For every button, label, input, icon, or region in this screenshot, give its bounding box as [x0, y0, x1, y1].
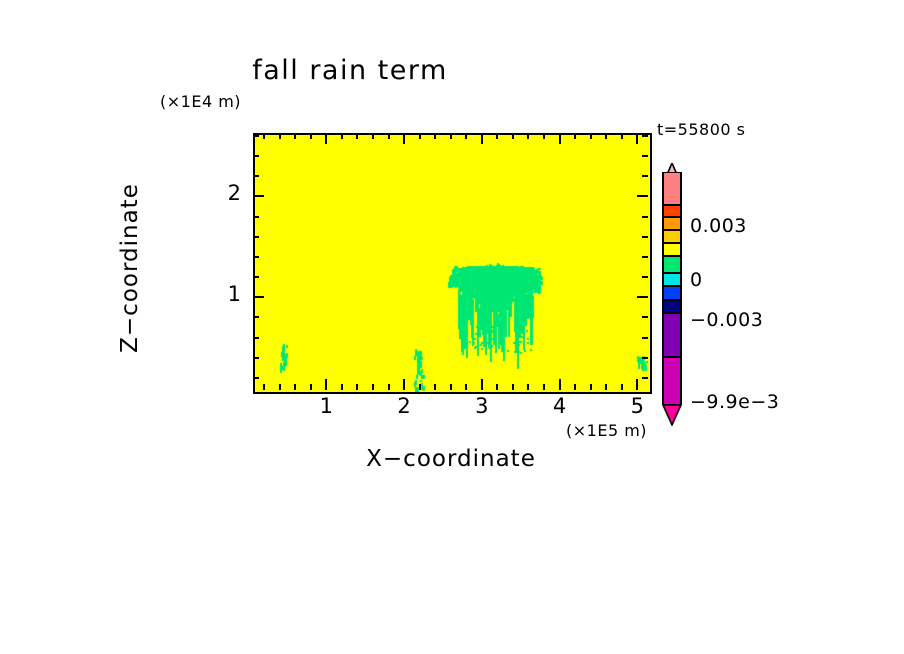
x-axis-unit-label: (×1E5 m) [566, 421, 647, 440]
tick-mark [263, 384, 265, 390]
tick-mark [559, 379, 561, 390]
tick-mark [642, 276, 648, 278]
tick-mark [341, 133, 343, 139]
tick-mark [294, 384, 296, 390]
tick-mark [642, 135, 648, 137]
tick-mark [642, 155, 648, 157]
tick-mark [263, 133, 265, 139]
tick-mark [642, 316, 648, 318]
tick-mark [496, 384, 498, 390]
colorbar-band [662, 357, 682, 405]
tick-mark [450, 133, 452, 139]
tick-mark [621, 384, 623, 390]
heatmap-canvas [255, 135, 650, 392]
tick-mark [450, 384, 452, 390]
tick-mark [543, 133, 545, 139]
colorbar-band [662, 172, 682, 205]
colorbar-band [662, 205, 682, 217]
tick-mark [637, 195, 648, 197]
x-tick-label: 4 [540, 394, 580, 418]
tick-mark [372, 133, 374, 139]
colorbar-tick-label: −9.9e−3 [690, 391, 779, 413]
tick-mark [527, 384, 529, 390]
colorbar-tick-label: 0.003 [690, 215, 747, 237]
tick-mark [465, 133, 467, 139]
tick-mark [419, 133, 421, 139]
tick-mark [642, 236, 648, 238]
tick-mark [253, 337, 259, 339]
tick-mark [403, 379, 405, 390]
tick-mark [253, 316, 259, 318]
tick-mark [642, 256, 648, 258]
tick-mark [253, 256, 259, 258]
tick-mark [605, 133, 607, 139]
colorbar-band [662, 273, 682, 286]
tick-mark [253, 175, 259, 177]
tick-mark [590, 384, 592, 390]
tick-mark [356, 133, 358, 139]
tick-mark [642, 357, 648, 359]
x-tick-label: 5 [617, 394, 657, 418]
colorbar-band [662, 230, 682, 243]
tick-mark [310, 133, 312, 139]
page-title: fall rain term [0, 55, 700, 86]
tick-mark [527, 133, 529, 139]
tick-mark [605, 384, 607, 390]
figure-canvas: fall rain term (×1E4 m) (×1E5 m) t=55800… [0, 0, 904, 654]
tick-mark [636, 379, 638, 390]
tick-mark [496, 133, 498, 139]
tick-mark [543, 384, 545, 390]
tick-mark [310, 384, 312, 390]
colorbar-band [662, 243, 682, 256]
y-tick-label: 2 [201, 181, 241, 205]
tick-mark [388, 133, 390, 139]
tick-mark [434, 133, 436, 139]
tick-mark [341, 384, 343, 390]
y-tick-label: 1 [201, 282, 241, 306]
tick-mark [574, 384, 576, 390]
colorbar-tick-label: −0.003 [690, 309, 763, 331]
timestamp-annotation: t=55800 s [657, 120, 746, 139]
tick-mark [279, 133, 281, 139]
tick-mark [253, 216, 259, 218]
tick-mark [574, 133, 576, 139]
tick-mark [642, 216, 648, 218]
tick-mark [637, 296, 648, 298]
tick-mark [642, 377, 648, 379]
tick-mark [253, 377, 259, 379]
tick-mark [279, 384, 281, 390]
x-axis-title: X−coordinate [253, 446, 649, 472]
tick-mark [388, 384, 390, 390]
tick-mark [642, 337, 648, 339]
tick-mark [590, 133, 592, 139]
tick-mark [253, 135, 259, 137]
colorbar [662, 172, 682, 405]
colorbar-band [662, 286, 682, 300]
tick-mark [512, 133, 514, 139]
plot-area [253, 133, 652, 394]
tick-mark [325, 379, 327, 390]
tick-mark [253, 195, 264, 197]
tick-mark [294, 133, 296, 139]
tick-mark [372, 384, 374, 390]
tick-mark [481, 133, 483, 144]
colorbar-band [662, 300, 682, 313]
x-tick-label: 2 [384, 394, 424, 418]
colorbar-tick-label: 0 [690, 269, 703, 291]
tick-mark [512, 384, 514, 390]
colorbar-arrow-down [662, 404, 682, 426]
tick-mark [481, 379, 483, 390]
tick-mark [403, 133, 405, 144]
tick-mark [642, 175, 648, 177]
tick-mark [465, 384, 467, 390]
x-tick-label: 1 [306, 394, 346, 418]
tick-mark [253, 236, 259, 238]
colorbar-band [662, 313, 682, 357]
tick-mark [253, 357, 259, 359]
colorbar-band [662, 217, 682, 230]
tick-mark [253, 155, 259, 157]
tick-mark [419, 384, 421, 390]
tick-mark [253, 276, 259, 278]
tick-mark [356, 384, 358, 390]
tick-mark [559, 133, 561, 144]
tick-mark [325, 133, 327, 144]
tick-mark [636, 133, 638, 144]
y-axis-unit-label: (×1E4 m) [160, 92, 241, 111]
x-tick-label: 3 [462, 394, 502, 418]
tick-mark [253, 296, 264, 298]
tick-mark [621, 133, 623, 139]
colorbar-band [662, 256, 682, 273]
y-axis-title: Z−coordinate [117, 108, 143, 428]
tick-mark [434, 384, 436, 390]
